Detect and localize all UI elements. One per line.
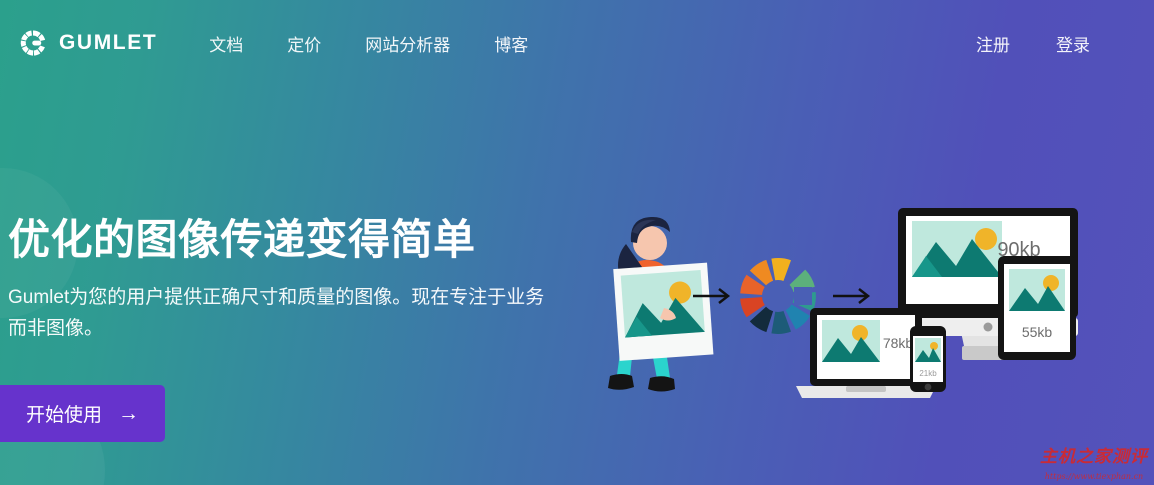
brand-name: GUMLET [59,31,157,55]
color-wheel-icon [736,254,821,337]
nav-link-docs[interactable]: 文档 [205,25,247,62]
segmented-circle-logo-icon [18,28,48,58]
cta-label: 开始使用 [26,400,102,427]
hero-copy: 优化的图像传递变得简单 Gumlet为您的用户提供正确尺寸和质量的图像。现在专注… [8,216,568,345]
hero-illustration: 90kb 55kb [588,196,1154,436]
nav-auth-links: 注册 登录 [972,25,1094,62]
nav-link-signup[interactable]: 注册 [972,25,1014,62]
watermark-title: 主机之家测评 [1040,448,1148,468]
arrow-right-icon: → [118,403,139,424]
laptop-size-label: 78kb [883,335,914,351]
hero-page: GUMLET 文档 定价 网站分析器 博客 注册 登录 优化的图像传递变得简单 … [0,0,1154,485]
nav-link-pricing[interactable]: 定价 [283,25,325,62]
tablet-size-label: 55kb [1022,324,1053,340]
page-title: 优化的图像传递变得简单 [8,216,568,263]
nav-link-login[interactable]: 登录 [1052,25,1094,62]
brand-logo[interactable]: GUMLET [18,28,157,58]
watermark: 主机之家测评 https://www.tiexphan.cn [1040,448,1148,481]
watermark-url: https://www.tiexphan.cn [1040,472,1148,481]
phone-device: 21kb [910,326,946,392]
nav-links: 文档 定价 网站分析器 博客 [205,25,532,62]
phone-size-label: 21kb [919,369,937,378]
tablet-device: 55kb [998,256,1076,360]
nav-link-analyzer[interactable]: 网站分析器 [361,25,454,62]
woman-carrying-photo-icon [608,217,713,392]
hero-subtitle: Gumlet为您的用户提供正确尺寸和质量的图像。现在专注于业务而非图像。 [8,283,548,345]
illustration-svg: 90kb 55kb [588,196,1154,436]
top-navigation-bar: GUMLET 文档 定价 网站分析器 博客 注册 登录 [0,0,1154,86]
get-started-button[interactable]: 开始使用 → [0,385,165,442]
nav-link-blog[interactable]: 博客 [490,25,532,62]
arrow-right-2-icon [833,289,868,303]
